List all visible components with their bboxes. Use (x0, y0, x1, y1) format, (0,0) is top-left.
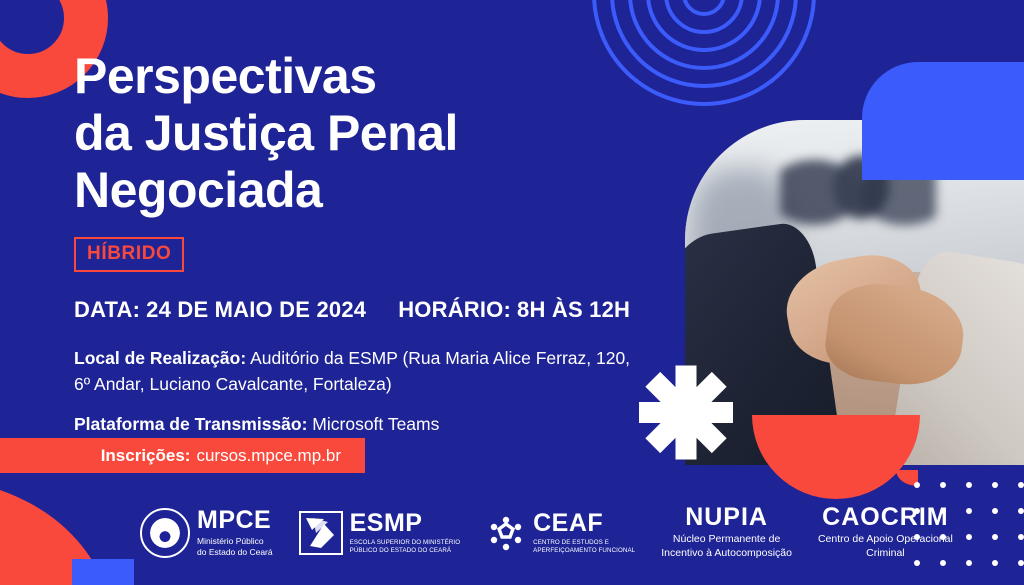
event-banner: Perspectivas da Justiça Penal Negociada … (0, 0, 1024, 585)
logo-strip: MPCE Ministério Público do Estado do Cea… (140, 505, 953, 560)
date-label: DATA: (74, 297, 140, 322)
page-title: Perspectivas da Justiça Penal Negociada (74, 48, 458, 219)
caocrim-subtitle: Centro de Apoio Operacional Criminal (818, 533, 953, 560)
mpce-emblem-icon (140, 508, 190, 558)
logo-mpce: MPCE Ministério Público do Estado do Cea… (140, 508, 273, 558)
schedule-row: DATA:24 DE MAIO DE 2024 HORÁRIO:8H ÀS 12… (74, 297, 630, 323)
venue-label: Local de Realização: (74, 348, 246, 368)
event-time: HORÁRIO:8H ÀS 12H (398, 297, 630, 323)
event-date: DATA:24 DE MAIO DE 2024 (74, 297, 366, 323)
status-badge: HÍBRIDO (74, 237, 184, 272)
platform-block: Plataforma de Transmissão: Microsoft Tea… (74, 411, 634, 437)
time-label: HORÁRIO: (398, 297, 511, 322)
ceaf-name: CEAF (533, 511, 635, 536)
venue-block: Local de Realização: Auditório da ESMP (… (74, 345, 634, 398)
mpce-name: MPCE (197, 508, 273, 533)
time-value: 8H ÀS 12H (517, 297, 630, 322)
nupia-subtitle: Núcleo Permanente de Incentivo à Autocom… (661, 533, 792, 560)
esmp-name: ESMP (350, 511, 461, 536)
logo-nupia: NUPIA Núcleo Permanente de Incentivo à A… (661, 505, 792, 560)
date-value: 24 DE MAIO DE 2024 (146, 297, 366, 322)
ceaf-subtitle: CENTRO DE ESTUDOS E APERFEIÇOAMENTO FUNC… (533, 539, 635, 555)
nupia-name: NUPIA (661, 505, 792, 530)
esmp-subtitle: ESCOLA SUPERIOR DO MINISTÉRIO PÚBLICO DO… (350, 539, 461, 555)
registration-url[interactable]: cursos.mpce.mp.br (196, 446, 341, 466)
caocrim-name: CAOCRIM (818, 505, 953, 530)
mpce-subtitle: Ministério Público do Estado do Ceará (197, 536, 273, 557)
ceaf-emblem-icon (486, 513, 526, 553)
event-details: Local de Realização: Auditório da ESMP (… (74, 345, 634, 450)
registration-label: Inscrições: (101, 446, 191, 466)
registration-bar[interactable]: Inscrições: cursos.mpce.mp.br (0, 438, 365, 473)
platform-label: Plataforma de Transmissão: (74, 414, 307, 434)
esmp-emblem-icon (299, 511, 343, 555)
logo-esmp: ESMP ESCOLA SUPERIOR DO MINISTÉRIO PÚBLI… (299, 511, 461, 555)
platform-value: Microsoft Teams (312, 414, 439, 434)
logo-ceaf: CEAF CENTRO DE ESTUDOS E APERFEIÇOAMENTO… (486, 511, 635, 555)
logo-caocrim: CAOCRIM Centro de Apoio Operacional Crim… (818, 505, 953, 560)
